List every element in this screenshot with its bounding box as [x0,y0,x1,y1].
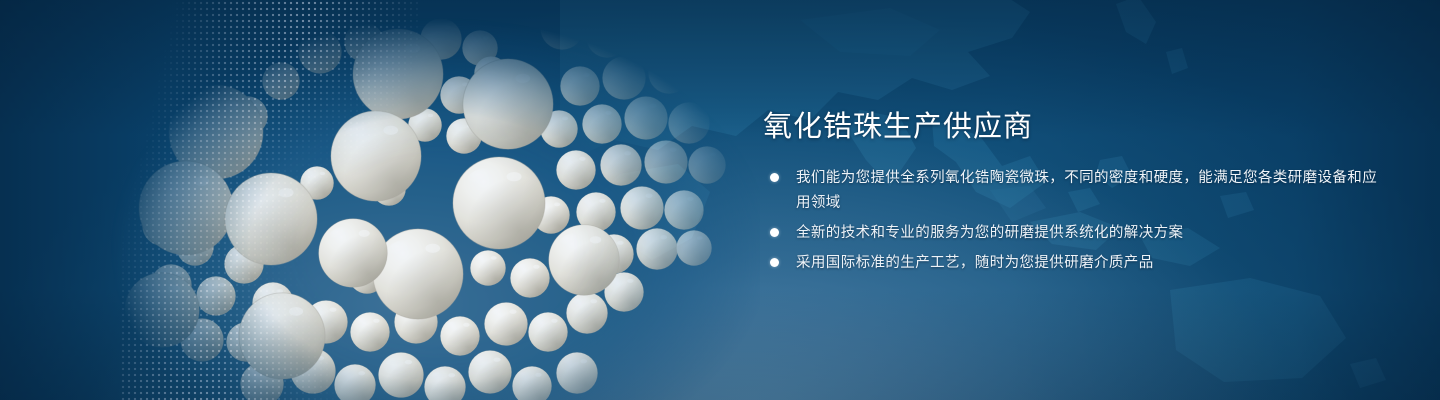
list-item-label: 全新的技术和专业的服务为您的研磨提供系统化的解决方案 [796,221,1183,246]
zirconia-beads-photo [0,0,760,400]
list-item: 采用国际标准的生产工艺，随时为您提供研磨介质产品 [763,251,1383,276]
list-item: 我们能为您提供全系列氧化锆陶瓷微珠，不同的密度和硬度，能满足您各类研磨设备和应用… [763,166,1383,216]
list-item: 全新的技术和专业的服务为您的研磨提供系统化的解决方案 [763,221,1383,246]
list-item-label: 采用国际标准的生产工艺，随时为您提供研磨介质产品 [796,251,1154,276]
bullet-dot-icon [770,258,779,267]
hero-banner: 氧化锆珠生产供应商 我们能为您提供全系列氧化锆陶瓷微珠，不同的密度和硬度，能满足… [0,0,1440,400]
bullet-dot-icon [770,228,779,237]
list-item-label: 我们能为您提供全系列氧化锆陶瓷微珠，不同的密度和硬度，能满足您各类研磨设备和应用… [796,166,1383,216]
banner-copy: 氧化锆珠生产供应商 我们能为您提供全系列氧化锆陶瓷微珠，不同的密度和硬度，能满足… [763,108,1383,281]
bullet-dot-icon [770,173,779,182]
feature-list: 我们能为您提供全系列氧化锆陶瓷微珠，不同的密度和硬度，能满足您各类研磨设备和应用… [763,166,1383,276]
page-title: 氧化锆珠生产供应商 [763,108,1383,146]
